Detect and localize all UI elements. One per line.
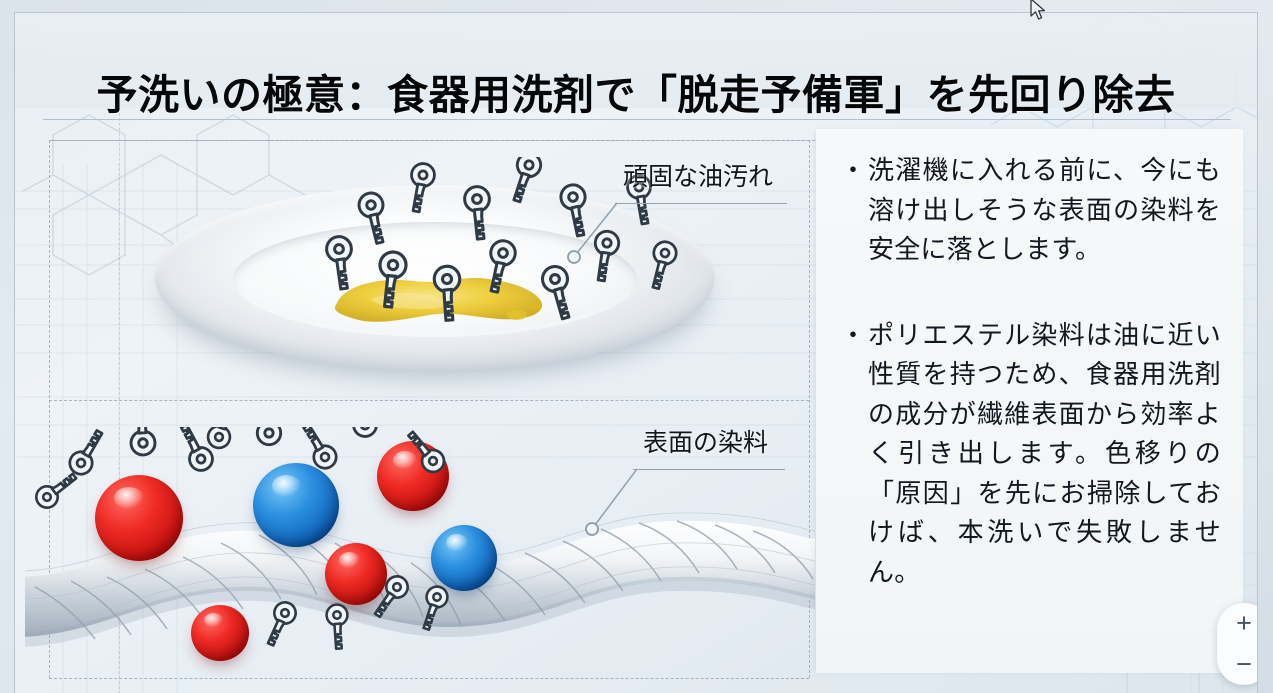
zoom-control[interactable]: + − [1217, 603, 1258, 685]
bullet-marker: ・ [840, 151, 866, 191]
bullet-item: ・ 洗濯機に入れる前に、今にも溶け出しそうな表面の染料を安全に落とします。 [840, 151, 1221, 270]
illustration-guide-bottom [49, 678, 809, 679]
bullet-marker: ・ [840, 316, 866, 356]
plate-well [322, 256, 548, 308]
illustration-column: 頑固な油汚れ [15, 127, 815, 693]
callout-surface-dye-leader [581, 463, 651, 543]
explanation-panel: ・ 洗濯機に入れる前に、今にも溶け出しそうな表面の染料を安全に落とします。 ・ … [816, 129, 1243, 673]
callout-oil-stain-label: 頑固な油汚れ [623, 163, 773, 192]
callout-oil-stain-leader [563, 197, 633, 267]
plate-illustration [125, 157, 745, 407]
callout-surface-dye-label: 表面の染料 [643, 429, 768, 458]
slide-frame: 予洗いの極意：食器用洗剤で「脱走予備軍」を先回り除去 [14, 12, 1258, 693]
slide-stage: 予洗いの極意：食器用洗剤で「脱走予備軍」を先回り除去 [0, 0, 1273, 693]
bullet-item: ・ ポリエステル染料は油に近い性質を持つため、食器用洗剤の成分が繊維表面から効率… [840, 316, 1221, 593]
page-title: 予洗いの極意：食器用洗剤で「脱走予備軍」を先回り除去 [15, 70, 1257, 121]
dye-molecule-red [95, 475, 183, 561]
callout-oil-stain-underline [615, 203, 787, 204]
fiber-rope-illustration [25, 427, 815, 677]
callout-surface-dye-underline [633, 469, 785, 470]
zoom-out-button[interactable]: − [1227, 648, 1258, 682]
bullet-text: ポリエステル染料は油に近い性質を持つため、食器用洗剤の成分が繊維表面から効率よく… [868, 316, 1221, 593]
dye-molecule-blue [253, 463, 339, 547]
zoom-in-button[interactable]: + [1227, 607, 1258, 641]
dye-molecule-red [377, 441, 449, 511]
bullet-text: 洗濯機に入れる前に、今にも溶け出しそうな表面の染料を安全に落とします。 [868, 151, 1221, 270]
illustration-guide-top [49, 140, 809, 141]
title-divider-rule [43, 119, 1231, 120]
dye-molecule-blue [431, 525, 497, 591]
dye-molecule-red [191, 605, 249, 661]
dye-molecule-red [325, 543, 387, 605]
